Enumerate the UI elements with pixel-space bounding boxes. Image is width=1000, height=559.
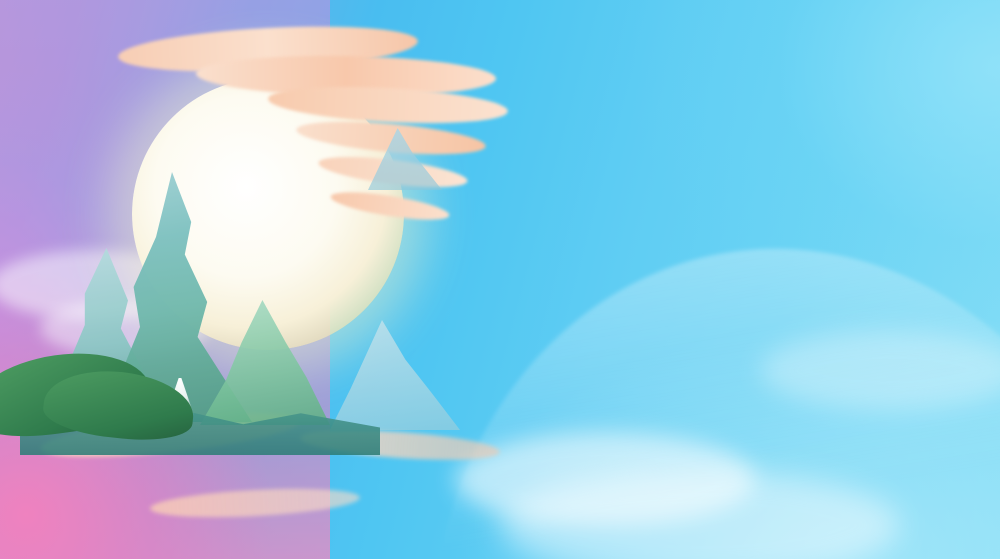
poster-root: ✺ ✺ ✺ 汉 语 桥 海外预选赛 S. 3.04 汉语桥 CHINESE BR… — [0, 0, 1000, 559]
